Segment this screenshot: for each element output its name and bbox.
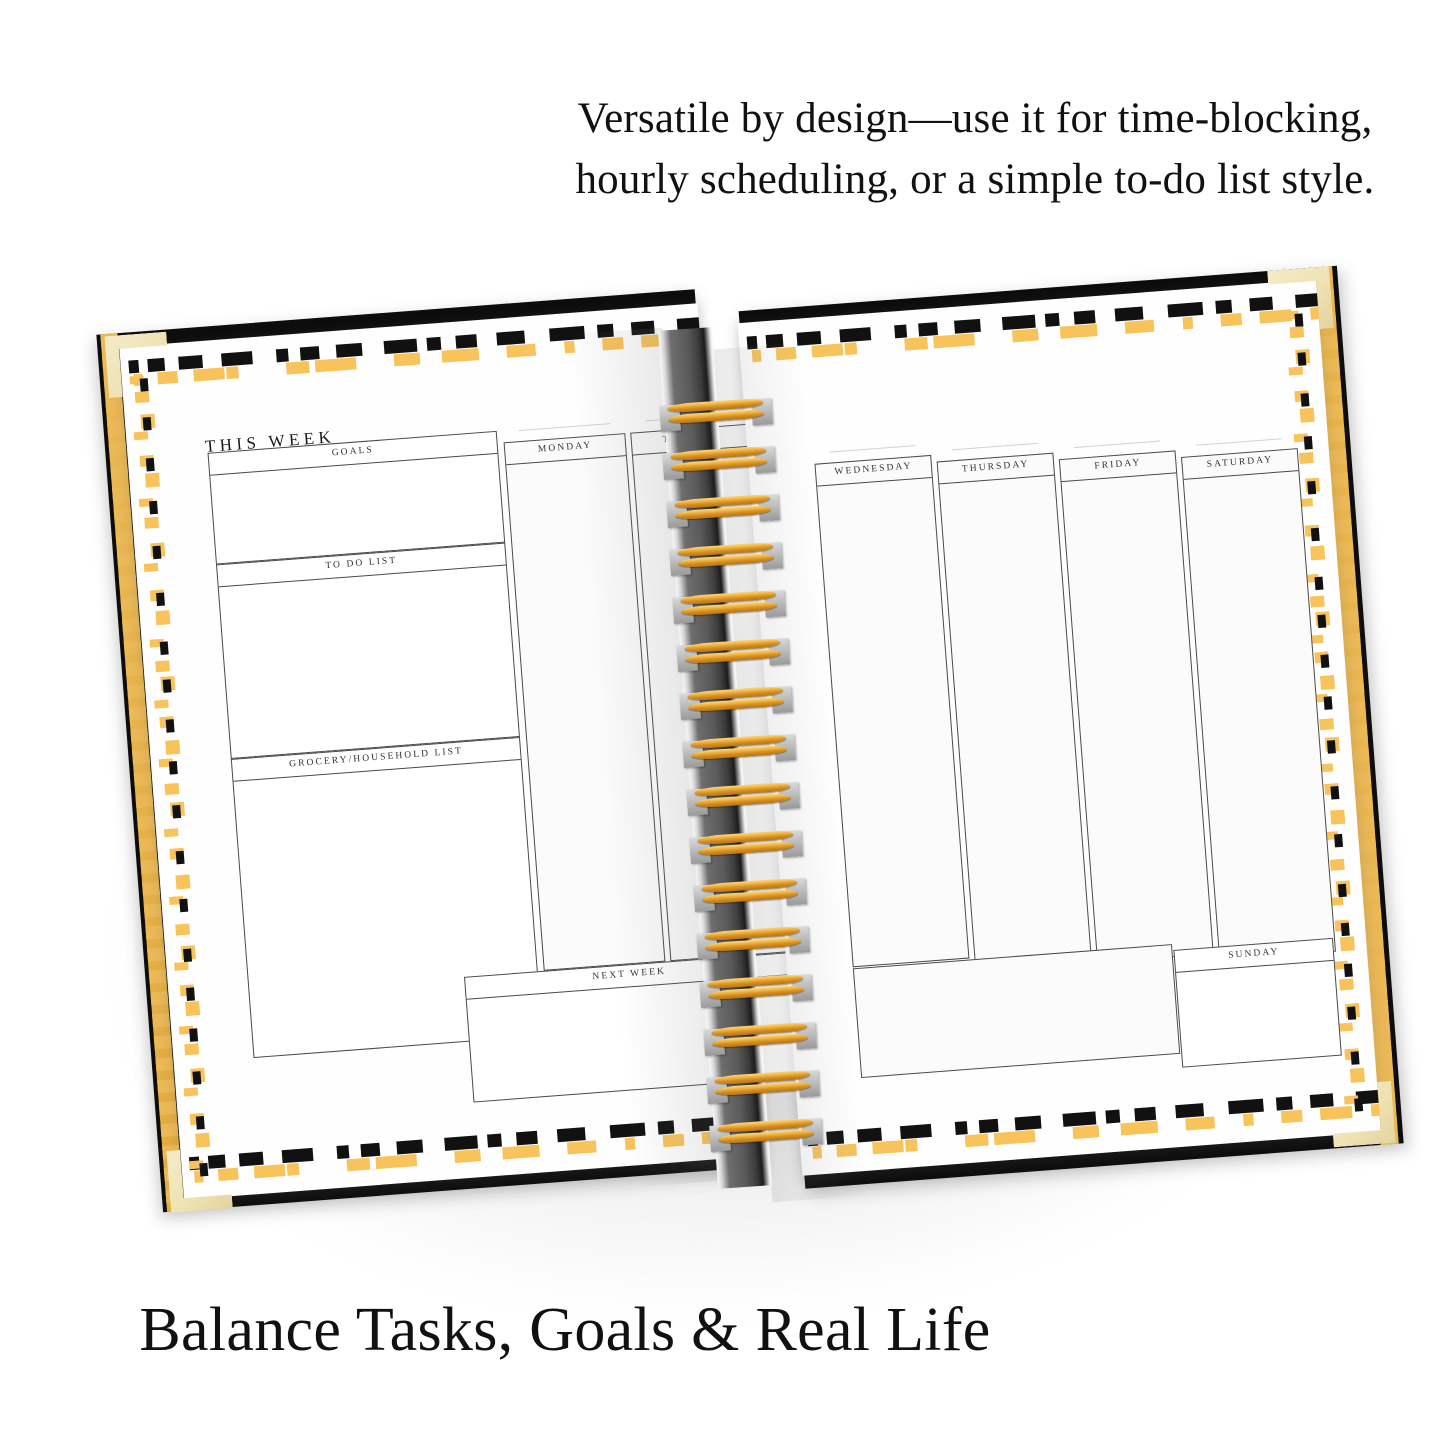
border-dash-black <box>1074 310 1096 325</box>
border-dash-gold <box>506 344 536 358</box>
border-dash-black <box>1301 393 1310 407</box>
border-dash-black <box>1115 306 1144 321</box>
border-dash-black <box>178 355 203 370</box>
border-dash-black <box>396 1140 423 1155</box>
border-dash-black <box>1354 1098 1363 1112</box>
border-dash-black <box>487 1134 502 1148</box>
border-dash-black <box>516 1131 538 1146</box>
border-dash-gold <box>1339 978 1354 990</box>
border-dash-black <box>1317 614 1326 628</box>
border-dash-black <box>360 1143 380 1157</box>
tick-mark-thursday <box>952 443 1038 451</box>
border-dash-black <box>496 330 525 345</box>
border-dash-black <box>426 337 441 351</box>
border-dash-black <box>196 1116 205 1130</box>
border-dash-black <box>857 1128 882 1143</box>
box-friday-rule <box>1061 472 1176 482</box>
border-dash-gold <box>341 357 357 370</box>
border-dash-gold <box>165 783 180 795</box>
border-dash-black <box>597 324 614 338</box>
border-dash-gold <box>905 1139 918 1152</box>
border-dash-gold <box>965 1134 989 1148</box>
border-dash-gold <box>1310 545 1325 560</box>
border-dash-black <box>918 322 938 336</box>
border-dash-black <box>1334 834 1343 848</box>
border-dash-black <box>160 641 169 655</box>
border-dash-black <box>1134 1107 1156 1122</box>
border-dash-gold <box>287 1163 300 1176</box>
border-dash-gold <box>1330 810 1345 825</box>
border-dash-black <box>839 327 871 342</box>
border-dash-gold <box>175 924 190 936</box>
border-dash-black <box>1294 313 1303 327</box>
border-dash-gold <box>155 660 170 672</box>
border-dash-gold <box>218 1168 239 1181</box>
border-dash-gold <box>602 337 624 351</box>
border-dash-black <box>1344 963 1353 977</box>
border-dash-black <box>1311 528 1320 542</box>
border-dash-black <box>143 417 152 431</box>
border-dash-gold <box>165 740 180 755</box>
border-dash-gold <box>1320 675 1335 690</box>
border-dash-gold <box>175 874 190 889</box>
border-dash-black <box>796 331 821 346</box>
border-dash-black <box>1307 481 1316 495</box>
border-dash-black <box>146 458 155 472</box>
box-wednesday-label: WEDNESDAY <box>816 460 931 479</box>
border-dash-black <box>900 1124 932 1139</box>
border-dash-black <box>766 334 784 348</box>
border-dash-black <box>455 334 477 349</box>
border-dash-gold <box>174 962 189 971</box>
border-dash-gold <box>157 371 178 384</box>
border-dash-gold <box>1300 408 1315 423</box>
border-dash-black <box>747 336 758 350</box>
border-dash-gold <box>1012 328 1039 342</box>
box-saturday-rule <box>1184 470 1299 480</box>
marketing-headline: Versatile by design—use it for time-bloc… <box>560 88 1390 210</box>
border-dash-black <box>1327 740 1336 754</box>
border-dash-black <box>1315 577 1324 591</box>
border-dash-gold <box>164 828 179 837</box>
border-dash-gold <box>836 1144 857 1157</box>
border-dash-gold <box>1319 718 1334 730</box>
right-planner-page: WEDNESDAY THURSDAY FRIDAY SATURDAY SUNDA… <box>738 279 1381 1176</box>
border-dash-black <box>221 351 253 366</box>
border-dash-black <box>1330 786 1339 800</box>
border-dash-black <box>384 339 418 354</box>
border-dash-gold <box>145 473 160 488</box>
border-dash-gold <box>184 1043 199 1055</box>
border-dash-black <box>1228 1099 1264 1115</box>
border-dash-gold <box>454 1149 481 1163</box>
border-dash-black <box>179 899 188 913</box>
border-dash-black <box>1002 315 1036 330</box>
border-dash-gold <box>1182 317 1193 330</box>
border-dash-gold <box>1299 452 1314 464</box>
border-dash-gold <box>1185 1116 1215 1130</box>
border-dash-black <box>1215 300 1232 314</box>
border-dash-black <box>444 1135 478 1150</box>
border-dash-black <box>336 343 363 358</box>
border-dash-gold <box>844 342 857 355</box>
border-dash-black <box>189 1028 198 1042</box>
border-dash-gold <box>625 1137 636 1150</box>
border-dash-gold <box>811 343 843 357</box>
box-to-do-list[interactable]: TO DO LIST <box>216 543 520 759</box>
border-dash-gold <box>193 367 225 381</box>
border-dash-gold <box>1310 596 1325 608</box>
border-dash-black <box>1015 1116 1042 1131</box>
border-dash-black <box>199 1163 208 1177</box>
box-notes-strip[interactable] <box>853 944 1180 1078</box>
border-dash-gold <box>460 348 479 361</box>
border-dash-gold <box>144 517 159 529</box>
tick-mark-friday <box>1074 441 1160 449</box>
border-dash-black <box>140 378 149 392</box>
border-dash-black <box>183 949 192 963</box>
border-dash-black <box>186 987 195 1001</box>
box-sunday[interactable]: SUNDAY <box>1173 938 1341 1068</box>
border-dash-gold <box>521 1145 540 1158</box>
border-dash-black <box>276 348 289 362</box>
border-dash-gold <box>134 431 149 440</box>
border-dash-black <box>1320 654 1329 668</box>
tick-mark-wednesday <box>830 445 916 453</box>
border-dash-gold <box>1330 859 1345 871</box>
tick-mark-saturday <box>1196 438 1282 446</box>
border-dash-black <box>300 346 320 360</box>
border-dash-gold <box>959 333 975 346</box>
border-dash-gold <box>1020 1130 1036 1143</box>
border-dash-black <box>1105 1110 1120 1124</box>
border-dash-black <box>955 1121 968 1135</box>
border-dash-gold <box>663 1134 685 1148</box>
border-dash-black <box>1276 1096 1293 1110</box>
border-dash-black <box>163 679 172 693</box>
border-dash-gold <box>1139 1121 1158 1134</box>
border-dash-black <box>1310 1093 1334 1108</box>
box-friday-label: FRIDAY <box>1060 455 1175 474</box>
border-dash-gold <box>1220 313 1242 327</box>
border-dash-gold <box>567 1140 597 1154</box>
border-dash-gold <box>226 366 239 379</box>
border-dash-black <box>336 1145 349 1159</box>
border-dash-gold <box>155 610 170 625</box>
border-dash-gold <box>185 1001 200 1016</box>
border-dash-gold <box>401 1154 417 1167</box>
border-dash-black <box>1347 1006 1356 1020</box>
border-dash-black <box>1341 923 1350 937</box>
planner-spread-image: THIS WEEK GOALS TO DO LIST GROCERY/HOUSE… <box>0 250 1445 1280</box>
border-dash-black <box>658 1120 675 1134</box>
border-dash-black <box>979 1119 999 1133</box>
box-monday-rule <box>506 455 626 465</box>
border-dash-black <box>549 326 585 342</box>
border-dash-black <box>156 593 165 607</box>
border-dash-black <box>1304 436 1313 450</box>
border-dash-gold <box>904 337 928 351</box>
border-dash-black <box>826 1131 844 1145</box>
border-dash-gold <box>752 350 762 363</box>
border-dash-gold <box>1079 324 1098 337</box>
border-dash-black <box>152 546 161 560</box>
border-dash-black <box>169 761 178 775</box>
border-dash-black <box>1249 297 1273 312</box>
border-dash-gold <box>254 1164 286 1178</box>
border-dash-gold <box>1243 1113 1254 1126</box>
border-dash-gold <box>1289 367 1304 376</box>
border-dash-gold <box>144 563 159 572</box>
border-dash-black <box>239 1152 264 1167</box>
page-border-pattern-top-right <box>738 291 1319 369</box>
border-dash-black <box>166 719 175 733</box>
border-dash-black <box>557 1127 586 1142</box>
border-dash-black <box>1351 1051 1360 1065</box>
border-dash-black <box>149 501 158 515</box>
border-dash-black <box>1297 352 1306 366</box>
border-dash-gold <box>564 341 575 354</box>
border-dash-black <box>954 319 981 334</box>
border-dash-gold <box>154 700 169 709</box>
border-dash-gold <box>1340 936 1355 951</box>
border-dash-gold <box>1125 320 1155 334</box>
border-dash-black <box>172 805 181 819</box>
border-dash-gold <box>1289 326 1304 338</box>
border-dash-black <box>1175 1103 1204 1118</box>
border-dash-gold <box>135 391 150 403</box>
border-dash-black <box>631 321 655 336</box>
border-dash-black <box>282 1148 314 1163</box>
box-thursday-rule <box>939 475 1054 485</box>
border-dash-gold <box>1338 1023 1353 1032</box>
border-dash-gold <box>346 1158 370 1172</box>
border-dash-gold <box>184 1087 199 1096</box>
border-dash-black <box>192 1071 201 1085</box>
border-dash-black <box>894 324 907 338</box>
box-saturday-label: SATURDAY <box>1182 453 1297 472</box>
tick-mark-monday <box>519 423 611 431</box>
border-dash-gold <box>286 361 310 375</box>
border-dash-black <box>1167 302 1203 318</box>
border-dash-gold <box>1350 1068 1365 1083</box>
box-thursday-label: THURSDAY <box>938 458 1053 477</box>
border-dash-gold <box>195 1133 210 1148</box>
border-dash-gold <box>1281 1110 1303 1124</box>
box-monday-label: MONDAY <box>505 438 625 457</box>
border-dash-black <box>1062 1111 1096 1126</box>
box-goals[interactable]: GOALS <box>208 431 506 565</box>
border-dash-black <box>1324 696 1333 710</box>
border-dash-black <box>610 1123 646 1139</box>
box-wednesday-rule <box>817 477 932 487</box>
border-dash-black <box>176 851 185 865</box>
border-dash-gold <box>776 347 797 360</box>
border-dash-black <box>1045 313 1060 327</box>
border-dash-black <box>1338 884 1347 898</box>
border-dash-gold <box>1073 1125 1100 1139</box>
border-dash-gold <box>812 1146 822 1159</box>
border-dash-gold <box>394 352 421 366</box>
border-dash-gold <box>872 1140 904 1154</box>
